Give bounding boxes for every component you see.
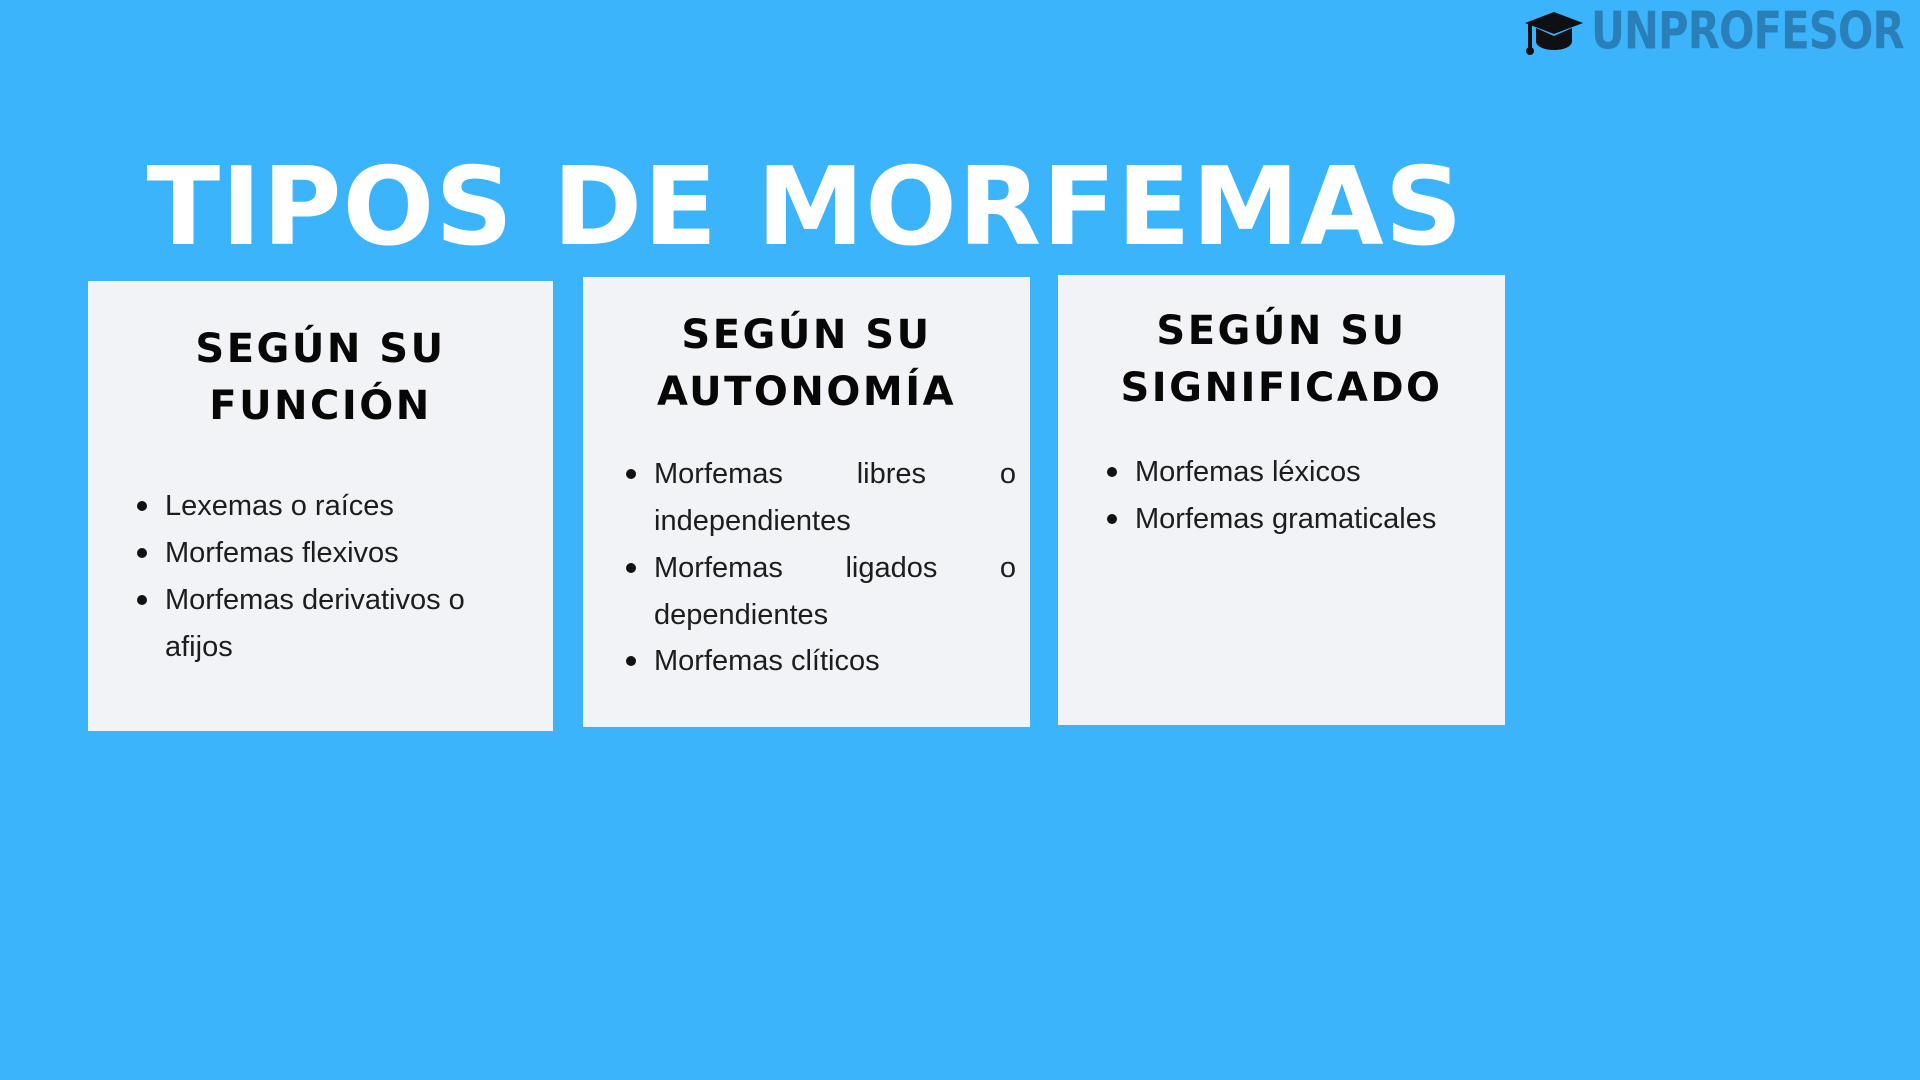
card-1-list: Lexemas o raíces Morfemas flexivos Morfe… xyxy=(132,483,529,671)
card-1-list-wrap: Lexemas o raíces Morfemas flexivos Morfe… xyxy=(88,435,553,671)
list-item: Morfemas léxicos xyxy=(1102,449,1485,496)
card-3-heading: SEGÚN SU SIGNIFICADO xyxy=(1058,275,1505,417)
list-item-label: Morfemas gramaticales xyxy=(1135,496,1485,543)
list-item: Lexemas o raíces xyxy=(132,483,529,530)
slide-canvas: UNPROFESOR TIPOS DE MORFEMAS SEGÚN SU FU… xyxy=(0,0,1920,1080)
graduation-cap-icon xyxy=(1523,8,1585,56)
list-item-label: Morfemas libres o independientes xyxy=(654,451,1016,545)
card-segun-su-funcion: SEGÚN SU FUNCIÓN Lexemas o raíces Morfem… xyxy=(88,281,553,731)
card-3-heading-line-1: SEGÚN SU xyxy=(1084,303,1479,360)
brand-logo[interactable]: UNPROFESOR xyxy=(1523,4,1920,60)
card-3-heading-line-2: SIGNIFICADO xyxy=(1084,360,1479,417)
bullet-icon xyxy=(626,563,636,573)
list-item-label: Morfemas léxicos xyxy=(1135,449,1485,496)
bullet-icon xyxy=(1107,467,1117,477)
list-item-label: Morfemas derivativos o afijos xyxy=(165,577,529,671)
card-2-list: Morfemas libres o independientes Morfema… xyxy=(621,451,1016,686)
card-2-heading-line-2: AUTONOMÍA xyxy=(609,364,1004,421)
list-item: Morfemas ligados o dependientes xyxy=(621,545,1016,639)
list-item-label: Morfemas flexivos xyxy=(165,530,529,577)
card-2-heading: SEGÚN SU AUTONOMÍA xyxy=(583,277,1030,421)
card-2-list-wrap: Morfemas libres o independientes Morfema… xyxy=(583,421,1030,686)
list-item: Morfemas derivativos o afijos xyxy=(132,577,529,671)
page-title: TIPOS DE MORFEMAS xyxy=(0,154,1610,262)
list-item-label: Lexemas o raíces xyxy=(165,483,529,530)
bullet-icon xyxy=(137,548,147,558)
card-1-heading-line-1: SEGÚN SU xyxy=(118,321,523,378)
list-item: Morfemas flexivos xyxy=(132,530,529,577)
list-item: Morfemas gramaticales xyxy=(1102,496,1485,543)
card-segun-su-significado: SEGÚN SU SIGNIFICADO Morfemas léxicos Mo… xyxy=(1058,275,1505,725)
bullet-icon xyxy=(626,656,636,666)
list-item-label: Morfemas clíticos xyxy=(654,638,1016,685)
logo-wordmark: UNPROFESOR xyxy=(1591,6,1904,58)
bullet-icon xyxy=(626,469,636,479)
card-3-list-wrap: Morfemas léxicos Morfemas gramaticales xyxy=(1058,417,1505,543)
list-item: Morfemas clíticos xyxy=(621,638,1016,685)
bullet-icon xyxy=(137,595,147,605)
card-segun-su-autonomia: SEGÚN SU AUTONOMÍA Morfemas libres o ind… xyxy=(583,277,1030,727)
card-1-heading-line-2: FUNCIÓN xyxy=(118,378,523,435)
bullet-icon xyxy=(137,501,147,511)
list-item: Morfemas libres o independientes xyxy=(621,451,1016,545)
card-2-heading-line-1: SEGÚN SU xyxy=(609,307,1004,364)
card-3-list: Morfemas léxicos Morfemas gramaticales xyxy=(1102,449,1485,543)
card-1-heading: SEGÚN SU FUNCIÓN xyxy=(88,281,553,435)
bullet-icon xyxy=(1107,514,1117,524)
list-item-label: Morfemas ligados o dependientes xyxy=(654,545,1016,639)
